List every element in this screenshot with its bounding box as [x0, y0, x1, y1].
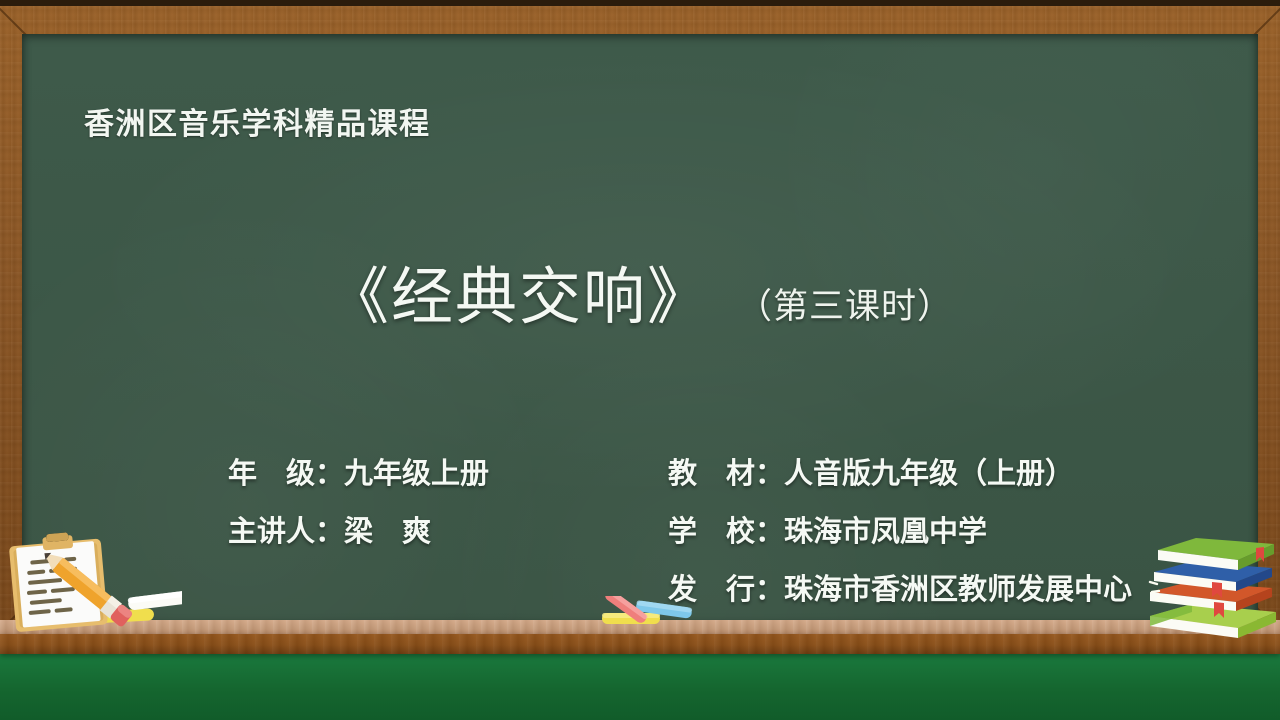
meta-row-presenter: 主讲人：梁 爽: [228, 502, 489, 560]
meta-value-textbook: 人音版九年级（上册）: [784, 444, 1074, 502]
meta-value-grade: 九年级上册: [344, 444, 489, 502]
meta-row-school: 学 校：珠海市凤凰中学: [668, 502, 1132, 560]
meta-label-school: 学 校：: [668, 502, 784, 560]
chalk-ledge-face: [0, 634, 1280, 654]
meta-row-grade: 年 级：九年级上册: [228, 444, 489, 502]
program-eyebrow: 香洲区音乐学科精品课程: [84, 99, 431, 143]
meta-column-right: 教 材：人音版九年级（上册） 学 校：珠海市凤凰中学 发 行：珠海市香洲区教师发…: [668, 444, 1132, 618]
meta-value-presenter: 梁 爽: [344, 502, 431, 560]
meta-value-school: 珠海市凤凰中学: [784, 502, 987, 560]
meta-label-grade: 年 级：: [228, 444, 344, 502]
lesson-title-main: 《经典交响》: [327, 246, 711, 336]
meta-value-publisher: 珠海市香洲区教师发展中心: [784, 560, 1132, 618]
floor-strip: [0, 652, 1280, 720]
meta-label-textbook: 教 材：: [668, 444, 784, 502]
lesson-title: 《经典交响》 （第三课时）: [0, 246, 1280, 336]
chalk-sticks-icon: [596, 596, 706, 630]
clipboard-icon: [2, 528, 182, 638]
meta-row-publisher: 发 行：珠海市香洲区教师发展中心: [668, 560, 1132, 618]
lesson-meta: 年 级：九年级上册 主讲人：梁 爽 教 材：人音版九年级（上册） 学 校：珠海市…: [0, 444, 1280, 614]
meta-row-textbook: 教 材：人音版九年级（上册）: [668, 444, 1132, 502]
meta-label-presenter: 主讲人：: [228, 502, 344, 560]
meta-column-left: 年 级：九年级上册 主讲人：梁 爽: [228, 444, 489, 560]
slide-canvas: 香洲区音乐学科精品课程 《经典交响》 （第三课时） 年 级：九年级上册 主讲人：…: [0, 0, 1280, 720]
lesson-title-session: （第三课时）: [737, 278, 953, 329]
book-stack-icon: [1146, 524, 1280, 640]
